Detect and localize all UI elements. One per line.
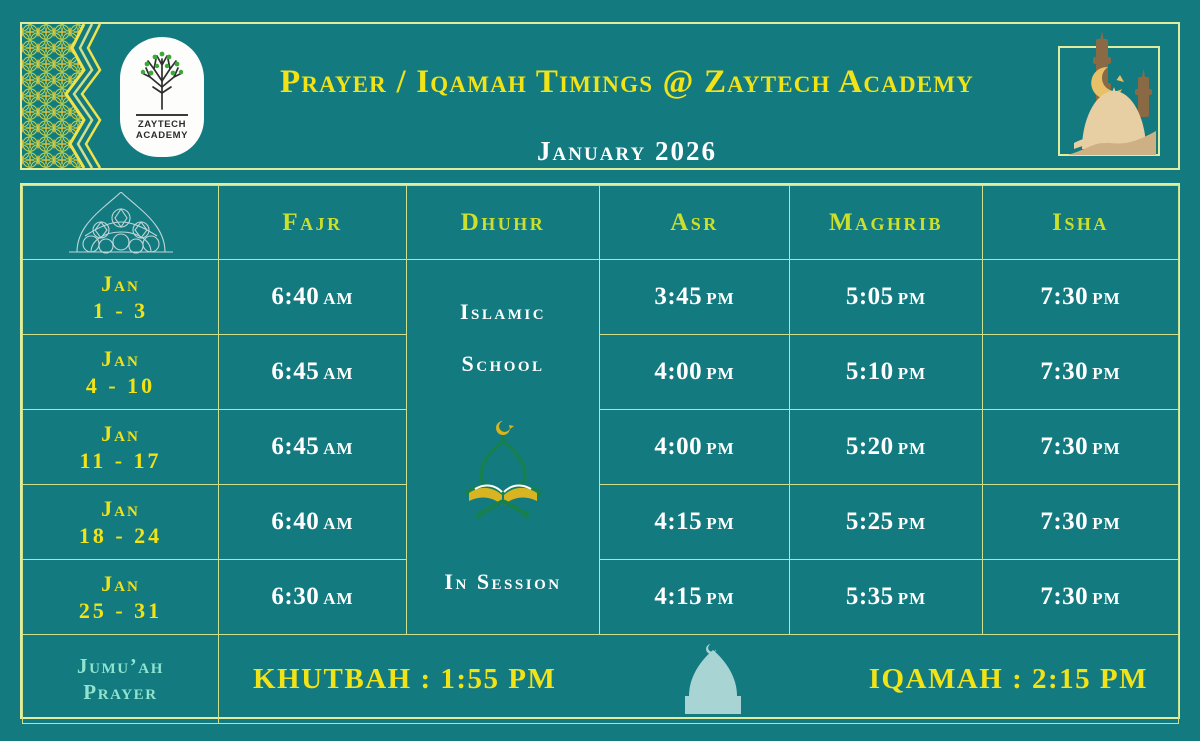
date-range-cell: Jan18 - 24	[23, 485, 219, 560]
isha-time: 7:30PM	[983, 335, 1179, 410]
asr-time-meridiem: PM	[706, 589, 734, 608]
zaytech-academy-logo: ZAYTECH ACADEMY	[120, 37, 204, 157]
logo-divider	[136, 114, 188, 116]
quran-dome-icon	[455, 419, 551, 523]
maghrib-time: 5:10PM	[790, 335, 983, 410]
fajr-time-value: 6:30	[271, 583, 319, 610]
isha-time-meridiem: PM	[1092, 439, 1120, 458]
asr-time-value: 4:00	[654, 433, 702, 460]
date-month: Jan	[23, 345, 218, 372]
fajr-time: 6:30AM	[219, 560, 407, 635]
maghrib-time-meridiem: PM	[898, 439, 926, 458]
asr-time-value: 3:45	[654, 283, 702, 310]
fajr-time-meridiem: AM	[323, 289, 353, 308]
fajr-time: 6:45AM	[219, 410, 407, 485]
maghrib-time-value: 5:05	[846, 283, 894, 310]
isha-time-meridiem: PM	[1092, 364, 1120, 383]
isha-time: 7:30PM	[983, 560, 1179, 635]
jumuah-label-line-2: Prayer	[23, 679, 218, 705]
mosque-silhouette-icon	[663, 640, 763, 723]
maghrib-time: 5:20PM	[790, 410, 983, 485]
isha-time-meridiem: PM	[1092, 589, 1120, 608]
date-range-cell: Jan1 - 3	[23, 260, 219, 335]
asr-time: 4:15PM	[600, 560, 790, 635]
jumuah-times-cell: KHUTBAH : 1:55 PM	[219, 635, 1179, 724]
isha-time-value: 7:30	[1040, 358, 1088, 385]
fajr-time-meridiem: AM	[323, 364, 353, 383]
dome-outline-icon	[61, 192, 181, 254]
fajr-time: 6:40AM	[219, 260, 407, 335]
dhuhr-note-cell: IslamicSchoolIn Session	[407, 260, 600, 635]
logo-wordmark: ZAYTECH ACADEMY	[136, 119, 188, 141]
column-header-fajr: Fajr	[219, 186, 407, 260]
jumuah-row: Jumu’ah Prayer KHUTBAH : 1:55 PM	[23, 635, 1179, 724]
maghrib-time-meridiem: PM	[898, 364, 926, 383]
islamic-geometric-pattern-icon	[22, 24, 120, 168]
fajr-time: 6:40AM	[219, 485, 407, 560]
isha-time: 7:30PM	[983, 260, 1179, 335]
isha-time-meridiem: PM	[1092, 289, 1120, 308]
isha-time-value: 7:30	[1040, 583, 1088, 610]
asr-time: 3:45PM	[600, 260, 790, 335]
table-row: Jan25 - 316:30AM4:15PM5:35PM7:30PM	[23, 560, 1179, 635]
fajr-time-meridiem: AM	[323, 514, 353, 533]
table-header-dome-cell	[23, 186, 219, 260]
dhuhr-note-top: IslamicSchool	[460, 286, 546, 390]
date-range-cell: Jan25 - 31	[23, 560, 219, 635]
fajr-time-value: 6:45	[271, 433, 319, 460]
asr-time-value: 4:00	[654, 358, 702, 385]
maghrib-time-value: 5:35	[846, 583, 894, 610]
date-month: Jan	[23, 270, 218, 297]
date-range: 1 - 3	[23, 297, 218, 324]
jumuah-label: Jumu’ah Prayer	[23, 635, 219, 724]
maghrib-time-meridiem: PM	[898, 589, 926, 608]
maghrib-time-value: 5:25	[846, 508, 894, 535]
asr-time: 4:00PM	[600, 410, 790, 485]
asr-time-meridiem: PM	[706, 514, 734, 533]
fajr-time-meridiem: AM	[323, 439, 353, 458]
prayer-schedule-table: Fajr Dhuhr Asr Maghrib Isha Jan1 - 36:40…	[20, 183, 1180, 719]
asr-time: 4:00PM	[600, 335, 790, 410]
table-row: Jan4 - 106:45AM4:00PM5:10PM7:30PM	[23, 335, 1179, 410]
quran-dome-icon	[455, 419, 551, 528]
asr-time-meridiem: PM	[706, 289, 734, 308]
mosque-illustration-icon	[1052, 31, 1168, 163]
asr-time-value: 4:15	[654, 583, 702, 610]
table-row: Jan11 - 176:45AM4:00PM5:20PM7:30PM	[23, 410, 1179, 485]
asr-time-value: 4:15	[654, 508, 702, 535]
maghrib-time: 5:25PM	[790, 485, 983, 560]
asr-time: 4:15PM	[600, 485, 790, 560]
fajr-time-value: 6:45	[271, 358, 319, 385]
fajr-time-meridiem: AM	[323, 589, 353, 608]
logo-line-2: ACADEMY	[136, 130, 188, 141]
isha-time-value: 7:30	[1040, 283, 1088, 310]
asr-time-meridiem: PM	[706, 439, 734, 458]
maghrib-time: 5:05PM	[790, 260, 983, 335]
maghrib-time-meridiem: PM	[898, 514, 926, 533]
isha-time: 7:30PM	[983, 410, 1179, 485]
date-month: Jan	[23, 420, 218, 447]
header-band: ZAYTECH ACADEMY Prayer / Iqamah Timings …	[20, 22, 1180, 170]
jumuah-label-line-1: Jumu’ah	[23, 653, 218, 679]
column-header-asr: Asr	[600, 186, 790, 260]
maghrib-time-value: 5:10	[846, 358, 894, 385]
logo-line-1: ZAYTECH	[138, 119, 186, 130]
date-range: 18 - 24	[23, 522, 218, 549]
date-month: Jan	[23, 570, 218, 597]
dhuhr-note-bottom: In Session	[444, 556, 561, 608]
maghrib-time-meridiem: PM	[898, 289, 926, 308]
date-range-cell: Jan4 - 10	[23, 335, 219, 410]
fajr-time: 6:45AM	[219, 335, 407, 410]
date-range: 25 - 31	[23, 597, 218, 624]
date-range: 4 - 10	[23, 372, 218, 399]
page-subtitle-month: January 2026	[212, 136, 1042, 167]
iqamah-time: IQAMAH : 2:15 PM	[869, 663, 1148, 696]
khutbah-time: KHUTBAH : 1:55 PM	[253, 663, 556, 696]
asr-time-meridiem: PM	[706, 364, 734, 383]
column-header-dhuhr: Dhuhr	[407, 186, 600, 260]
table-row: Jan1 - 36:40AMIslamicSchoolIn Session3:4…	[23, 260, 1179, 335]
isha-time: 7:30PM	[983, 485, 1179, 560]
date-range-cell: Jan11 - 17	[23, 410, 219, 485]
table-header-row: Fajr Dhuhr Asr Maghrib Isha	[23, 186, 1179, 260]
page-title: Prayer / Iqamah Timings @ Zaytech Academ…	[212, 64, 1042, 101]
isha-time-value: 7:30	[1040, 508, 1088, 535]
column-header-isha: Isha	[983, 186, 1179, 260]
date-range: 11 - 17	[23, 447, 218, 474]
fajr-time-value: 6:40	[271, 508, 319, 535]
table-row: Jan18 - 246:40AM4:15PM5:25PM7:30PM	[23, 485, 1179, 560]
fajr-time-value: 6:40	[271, 283, 319, 310]
maghrib-time: 5:35PM	[790, 560, 983, 635]
prayer-timings-poster: ZAYTECH ACADEMY Prayer / Iqamah Timings …	[0, 0, 1200, 741]
isha-time-meridiem: PM	[1092, 514, 1120, 533]
maghrib-time-value: 5:20	[846, 433, 894, 460]
olive-tree-icon	[132, 47, 192, 113]
date-month: Jan	[23, 495, 218, 522]
column-header-maghrib: Maghrib	[790, 186, 983, 260]
isha-time-value: 7:30	[1040, 433, 1088, 460]
